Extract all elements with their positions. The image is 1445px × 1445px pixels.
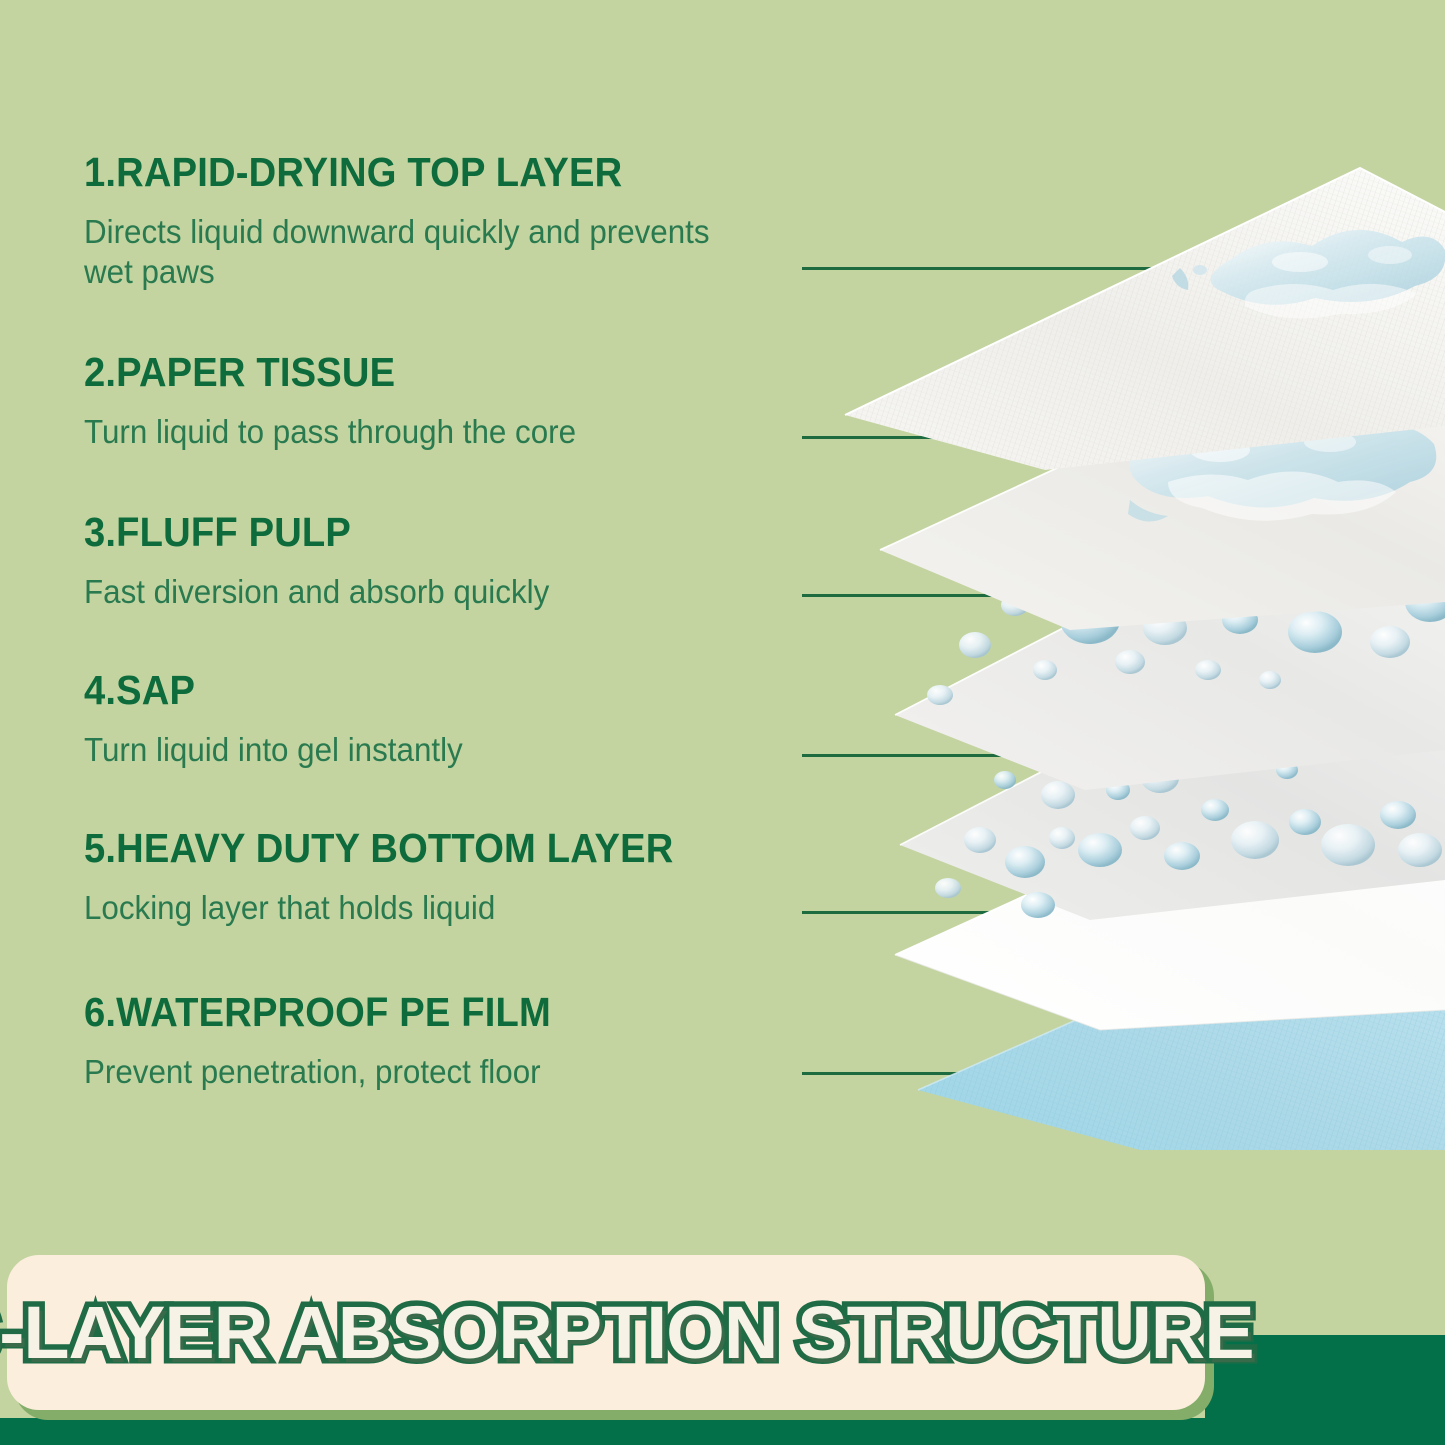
layer-item-5: 5.HEAVY DUTY BOTTOM LAYER Locking layer …: [84, 828, 718, 928]
layer-3-description: Fast diversion and absorb quickly: [84, 572, 549, 612]
layer-stack-illustration: [800, 150, 1445, 1150]
layer-1-title: 1.RAPID-DRYING TOP LAYER: [84, 152, 735, 194]
layer-2-title: 2.PAPER TISSUE: [84, 352, 566, 394]
layer-1-description: Directs liquid downward quickly and prev…: [84, 212, 749, 293]
layer-item-4: 4.SAP Turn liquid into gel instantly: [84, 670, 483, 770]
banner-title: 6-LAYER ABSORPTION STRUCTURE: [0, 1290, 1254, 1375]
layer-5-description: Locking layer that holds liquid: [84, 888, 686, 928]
layer-3-title: 3.FLUFF PULP: [84, 512, 539, 554]
layer-4-title: 4.SAP: [84, 670, 455, 712]
banner-plate: 6-LAYER ABSORPTION STRUCTURE: [7, 1255, 1205, 1410]
layer-item-1: 1.RAPID-DRYING TOP LAYER Directs liquid …: [84, 152, 784, 292]
layer-5-title: 5.HEAVY DUTY BOTTOM LAYER: [84, 828, 673, 870]
layer-6-title: 6.WATERPROOF PE FILM: [84, 992, 551, 1034]
layer-4-description: Turn liquid into gel instantly: [84, 730, 463, 770]
sheet-layer-1: [845, 168, 1445, 470]
layer-item-3: 3.FLUFF PULP Fast diversion and absorb q…: [84, 512, 574, 612]
layer-2-description: Turn liquid to pass through the core: [84, 412, 576, 452]
infographic-canvas: 1.RAPID-DRYING TOP LAYER Directs liquid …: [0, 0, 1445, 1445]
layer-item-2: 2.PAPER TISSUE Turn liquid to pass throu…: [84, 352, 602, 452]
bottom-dark-band: [0, 1418, 1445, 1445]
layer-6-description: Prevent penetration, protect floor: [84, 1052, 561, 1092]
layer-item-6: 6.WATERPROOF PE FILM Prevent penetration…: [84, 992, 586, 1092]
